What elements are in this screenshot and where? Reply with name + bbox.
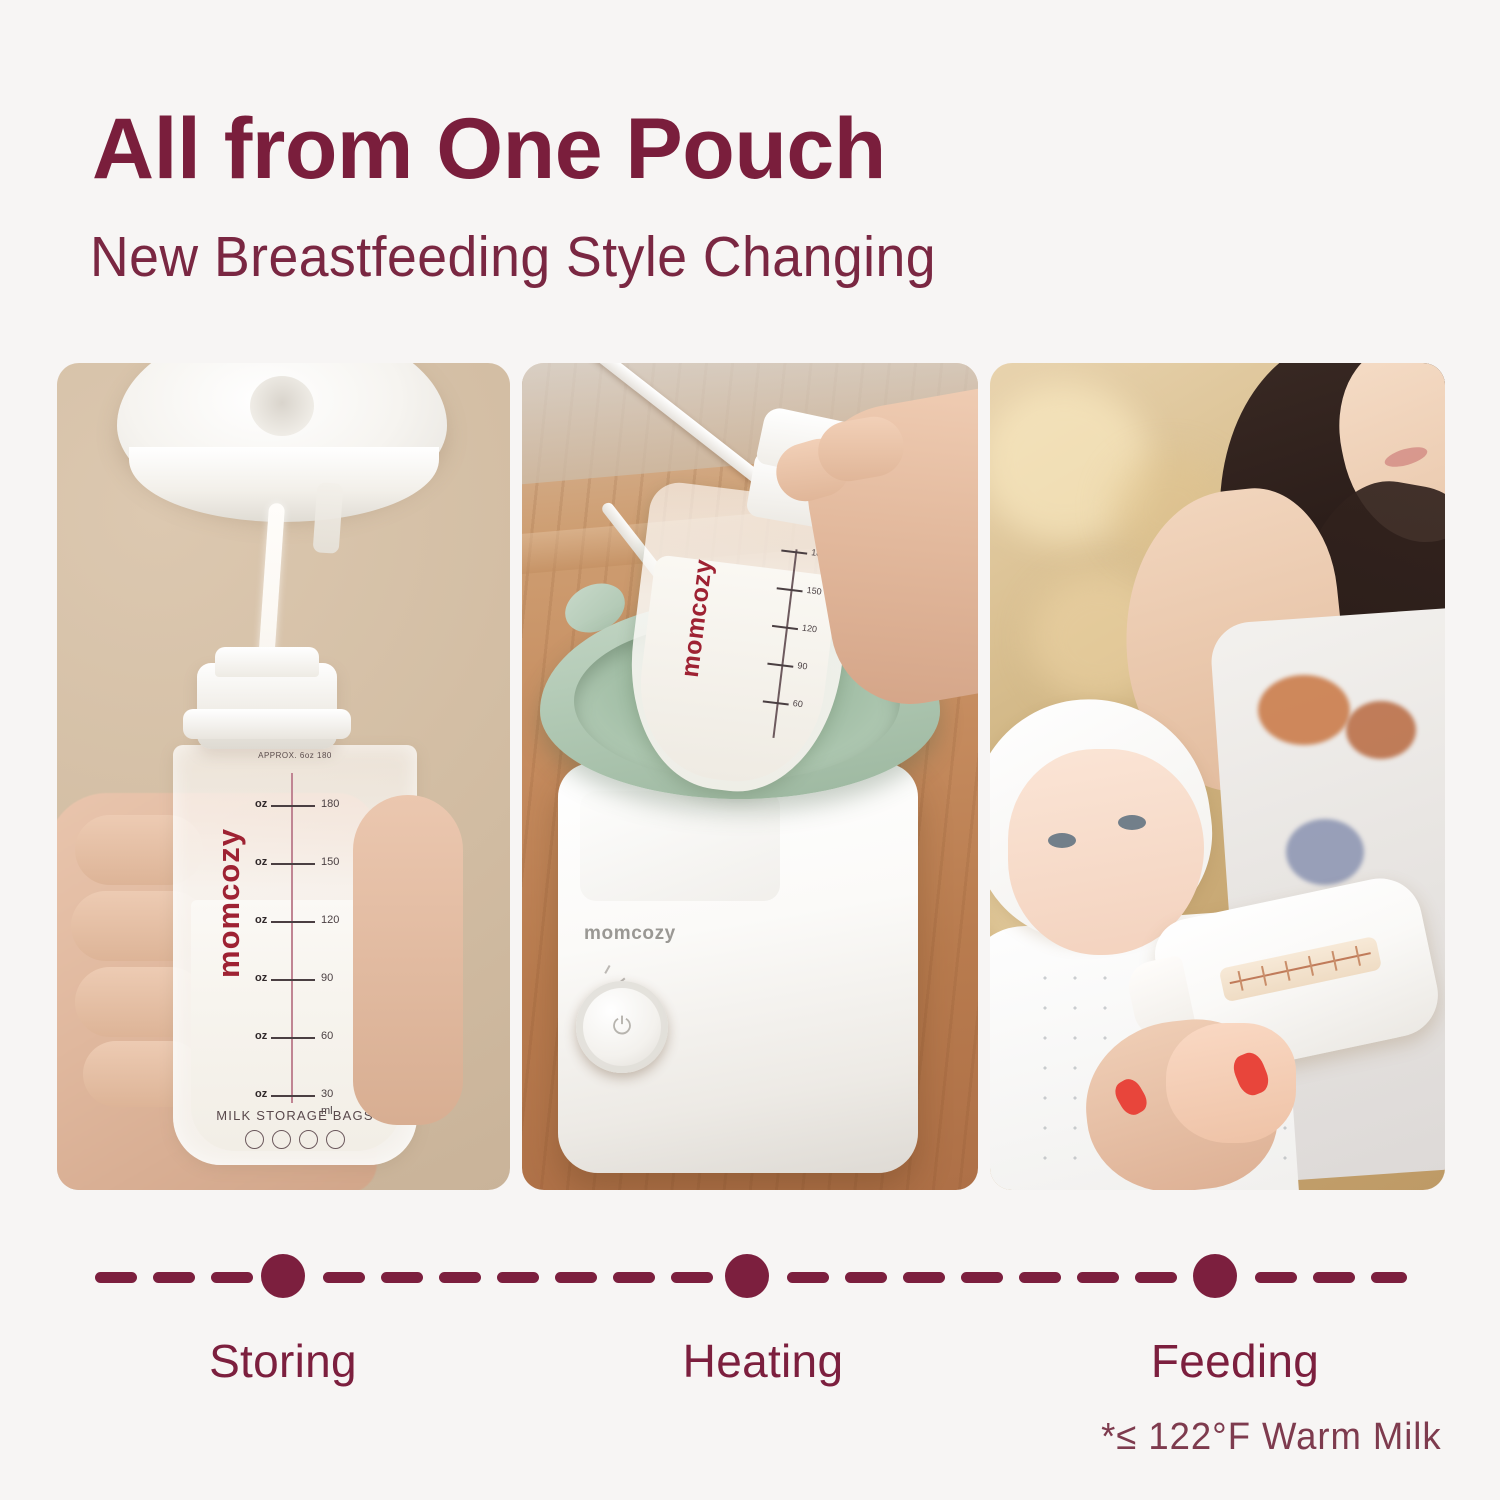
scale-label: 120 bbox=[321, 914, 339, 926]
power-dial[interactable] bbox=[576, 981, 668, 1073]
scale-label: 150 bbox=[806, 585, 822, 597]
panel-feeding bbox=[990, 363, 1445, 1190]
warmer-front-panel bbox=[580, 791, 780, 901]
bottle-adapter bbox=[197, 663, 337, 749]
scale-label: 60 bbox=[792, 698, 803, 709]
bag-brand-logo: momcozy bbox=[211, 813, 247, 993]
scale-tick bbox=[271, 863, 315, 865]
scale-label: 180 bbox=[321, 798, 339, 810]
temperature-footnote: *≤ 122°F Warm Milk bbox=[1102, 1416, 1442, 1459]
step-label-storing: Storing bbox=[158, 1334, 408, 1388]
shield-clip bbox=[313, 482, 344, 554]
scale-unit-left: oz bbox=[255, 798, 267, 810]
bottle-measurement-window bbox=[1219, 936, 1383, 1003]
recycle-icon bbox=[326, 1130, 345, 1149]
bag-care-icons bbox=[173, 1130, 417, 1149]
baby-hand bbox=[1166, 1023, 1296, 1143]
scale-tick bbox=[271, 1095, 315, 1097]
step-label-feeding: Feeding bbox=[1110, 1334, 1360, 1388]
page-title: All from One Pouch bbox=[92, 104, 886, 195]
warmer-brand-logo: momcozy bbox=[584, 923, 676, 945]
scale-tick bbox=[271, 921, 315, 923]
process-timeline bbox=[95, 1254, 1407, 1300]
panel-storing: APPROX. 6oz 180 momcozy oz 180 oz 150 oz… bbox=[57, 363, 510, 1190]
timeline-node-storing bbox=[261, 1254, 305, 1298]
scale-label: 120 bbox=[801, 623, 817, 635]
no-microwave-icon bbox=[272, 1130, 291, 1149]
scale-unit-left: oz bbox=[255, 914, 267, 926]
panel-row: APPROX. 6oz 180 momcozy oz 180 oz 150 oz… bbox=[57, 363, 1445, 1190]
panel-heating: momcozy momcozy 180 150 120 90 bbox=[522, 363, 978, 1190]
floral-print bbox=[1346, 701, 1416, 759]
bag-top-text: APPROX. 6oz 180 bbox=[173, 751, 417, 760]
scale-label: 90 bbox=[797, 660, 808, 671]
bpa-free-icon bbox=[299, 1130, 318, 1149]
scale-tick bbox=[271, 805, 315, 807]
step-label-heating: Heating bbox=[638, 1334, 888, 1388]
scale-tick bbox=[271, 979, 315, 981]
snowflake-icon bbox=[245, 1130, 264, 1149]
scale-tick bbox=[271, 1037, 315, 1039]
baby-eye bbox=[1118, 815, 1146, 830]
floral-print bbox=[1286, 819, 1364, 885]
timeline-node-feeding bbox=[1193, 1254, 1237, 1298]
baby-eye bbox=[1048, 833, 1076, 848]
scale-label: 150 bbox=[321, 856, 339, 868]
measurement-scale bbox=[291, 773, 293, 1103]
gauge-line bbox=[1230, 952, 1371, 983]
scale-unit-left: oz bbox=[255, 1030, 267, 1042]
scale-unit-left: oz bbox=[255, 972, 267, 984]
floral-print bbox=[1258, 675, 1350, 745]
timeline-node-heating bbox=[725, 1254, 769, 1298]
scale-label: 90 bbox=[321, 972, 333, 984]
scale-unit-left: oz bbox=[255, 856, 267, 868]
thumb bbox=[353, 795, 463, 1125]
bottle-warmer-body: momcozy bbox=[558, 763, 918, 1173]
scale-unit-left: oz bbox=[255, 1088, 267, 1100]
scale-label: 60 bbox=[321, 1030, 333, 1042]
page-subtitle: New Breastfeeding Style Changing bbox=[90, 226, 936, 289]
scale-label: 30 bbox=[321, 1088, 333, 1100]
